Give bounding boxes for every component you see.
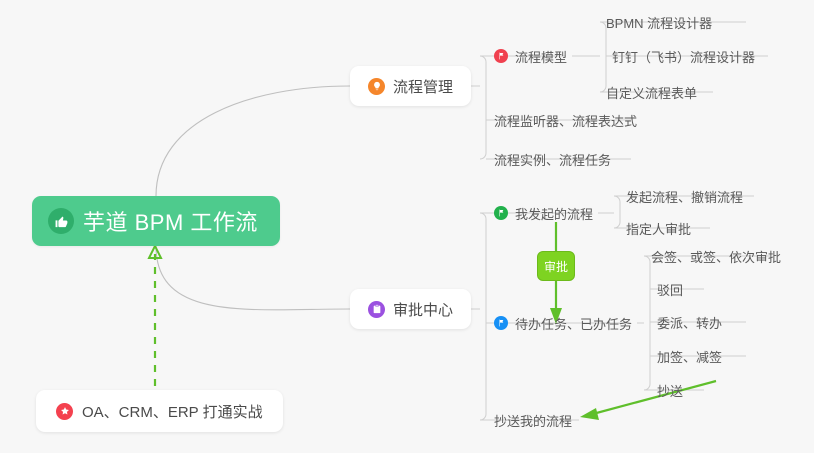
node-todo-done-tasks[interactable]: 待办任务、已办任务 <box>488 309 638 337</box>
node-assignee-approval[interactable]: 指定人审批 <box>620 214 697 242</box>
clipboard-icon <box>368 301 385 318</box>
node-label: 抄送 <box>657 381 683 400</box>
wire-ac-bracket <box>480 213 486 420</box>
node-cc-to-me-process[interactable]: 抄送我的流程 <box>488 406 578 434</box>
node-label: 流程监听器、流程表达式 <box>494 111 637 130</box>
node-label: 会签、或签、依次审批 <box>651 247 781 266</box>
wire-pm-bracket <box>480 56 486 159</box>
node-start-cancel-process[interactable]: 发起流程、撤销流程 <box>620 182 749 210</box>
node-my-initiated-process[interactable]: 我发起的流程 <box>488 199 599 227</box>
arrow-note-to-root <box>149 246 161 386</box>
root-node[interactable]: 芋道 BPM 工作流 <box>32 196 280 246</box>
arrow-cc-to-cc-mine <box>580 381 716 420</box>
node-process-instance-task[interactable]: 流程实例、流程任务 <box>488 145 617 173</box>
branch-label: 审批中心 <box>393 299 453 320</box>
node-label: 流程实例、流程任务 <box>494 150 611 169</box>
wire-root-to-process-management <box>156 86 350 196</box>
node-label: 加签、减签 <box>657 347 722 366</box>
branch-process-management[interactable]: 流程管理 <box>350 66 471 106</box>
node-label: 驳回 <box>657 280 683 299</box>
node-delegate-transfer[interactable]: 委派、转办 <box>651 308 728 336</box>
approval-tag[interactable]: 审批 <box>537 251 575 281</box>
approval-tag-label: 审批 <box>544 258 568 275</box>
node-bpmn-designer[interactable]: BPMN 流程设计器 <box>600 8 718 36</box>
node-label: 钉钉（飞书）流程设计器 <box>612 47 755 66</box>
node-countersign-orsign-sequential[interactable]: 会签、或签、依次审批 <box>645 242 787 270</box>
star-icon <box>56 403 73 420</box>
node-add-remove-sign[interactable]: 加签、减签 <box>651 342 728 370</box>
flag-blue-icon <box>494 316 508 330</box>
note-label: OA、CRM、ERP 打通实战 <box>82 401 263 422</box>
wire-todo-bracket <box>644 256 650 390</box>
node-label: 自定义流程表单 <box>606 83 697 102</box>
flag-red-icon <box>494 49 508 63</box>
node-label: 委派、转办 <box>657 313 722 332</box>
branch-approval-center[interactable]: 审批中心 <box>350 289 471 329</box>
branch-label: 流程管理 <box>393 76 453 97</box>
node-label: 我发起的流程 <box>515 204 593 223</box>
node-label: BPMN 流程设计器 <box>606 13 712 32</box>
node-process-model[interactable]: 流程模型 <box>488 42 573 70</box>
node-custom-form[interactable]: 自定义流程表单 <box>600 78 703 106</box>
node-process-listener-expression[interactable]: 流程监听器、流程表达式 <box>488 106 643 134</box>
note-integration-practice[interactable]: OA、CRM、ERP 打通实战 <box>36 390 283 432</box>
node-reject[interactable]: 驳回 <box>651 275 689 303</box>
mindmap-canvas: 芋道 BPM 工作流 流程管理 流程模型 BPMN 流程设计器 钉钉（飞书）流程… <box>0 0 814 453</box>
node-carbon-copy[interactable]: 抄送 <box>651 376 689 404</box>
flag-green-icon <box>494 206 508 220</box>
thumbs-up-icon <box>48 208 74 234</box>
node-label: 流程模型 <box>515 47 567 66</box>
node-dingtalk-feishu-designer[interactable]: 钉钉（飞书）流程设计器 <box>606 42 761 70</box>
node-label: 指定人审批 <box>626 219 691 238</box>
node-label: 抄送我的流程 <box>494 411 572 430</box>
wire-root-to-approval-center <box>156 246 350 310</box>
lightbulb-icon <box>368 78 385 95</box>
root-label: 芋道 BPM 工作流 <box>83 205 258 237</box>
node-label: 发起流程、撤销流程 <box>626 187 743 206</box>
node-label: 待办任务、已办任务 <box>515 314 632 333</box>
